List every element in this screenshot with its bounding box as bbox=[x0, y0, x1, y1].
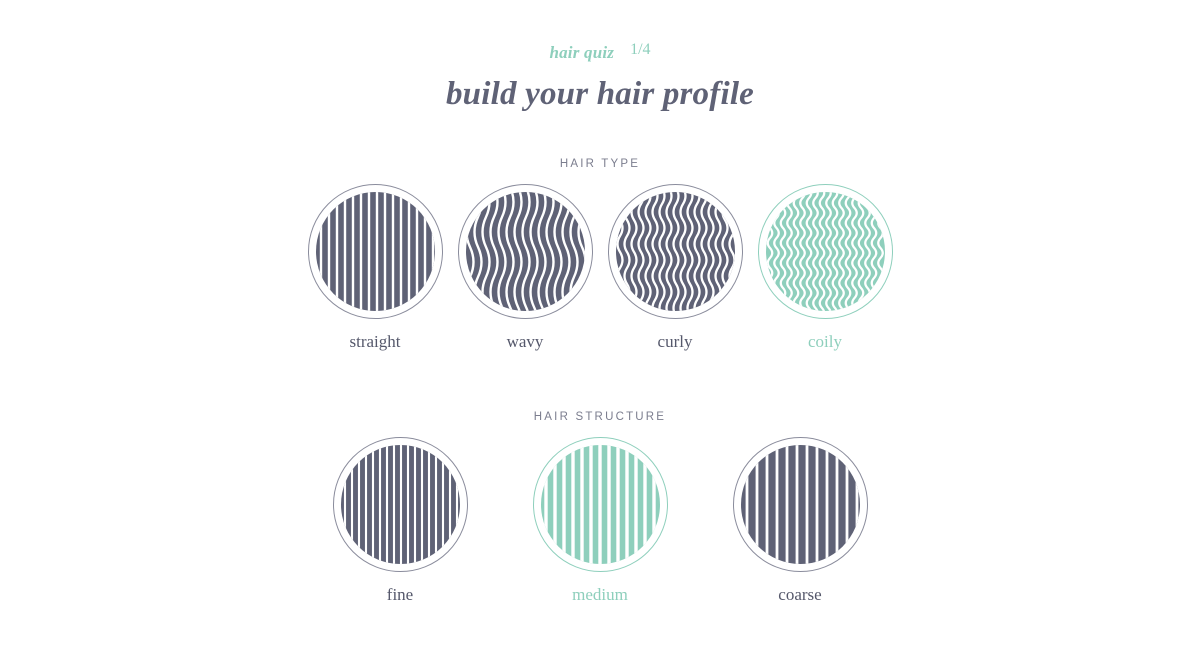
quiz-header: hair quiz1/4 build your hair profile bbox=[0, 44, 1200, 112]
swatch-curly[interactable] bbox=[608, 184, 743, 319]
curly-lines-icon bbox=[616, 192, 735, 311]
coily-lines-icon bbox=[766, 192, 885, 311]
section-hair-structure: HAIR STRUCTURE bbox=[0, 411, 1200, 603]
option-coarse[interactable]: coarse bbox=[733, 437, 868, 603]
swatch-straight[interactable] bbox=[308, 184, 443, 319]
option-label-coarse: coarse bbox=[778, 586, 821, 603]
option-label-curly: curly bbox=[658, 333, 693, 350]
section-label-hair-structure: HAIR STRUCTURE bbox=[0, 411, 1200, 423]
option-label-wavy: wavy bbox=[507, 333, 544, 350]
section-hair-type: HAIR TYPE straight bbox=[0, 158, 1200, 350]
option-label-medium: medium bbox=[572, 586, 628, 603]
option-coily[interactable]: coily bbox=[758, 184, 893, 350]
option-label-straight: straight bbox=[350, 333, 401, 350]
swatch-coarse[interactable] bbox=[733, 437, 868, 572]
coarse-stripes-icon bbox=[741, 445, 860, 564]
swatch-wavy[interactable] bbox=[458, 184, 593, 319]
option-wavy[interactable]: wavy bbox=[458, 184, 593, 350]
section-label-hair-type: HAIR TYPE bbox=[0, 158, 1200, 170]
fine-stripes-icon bbox=[341, 445, 460, 564]
page-title: build your hair profile bbox=[0, 76, 1200, 112]
quiz-name-label: hair quiz bbox=[549, 43, 614, 62]
step-counter: 1/4 bbox=[630, 41, 650, 58]
swatch-fine[interactable] bbox=[333, 437, 468, 572]
quiz-eyebrow: hair quiz1/4 bbox=[0, 44, 1200, 62]
option-row-hair-structure: fine medium bbox=[0, 437, 1200, 603]
wavy-lines-icon bbox=[466, 192, 585, 311]
option-label-coily: coily bbox=[808, 333, 842, 350]
swatch-medium[interactable] bbox=[533, 437, 668, 572]
straight-lines-icon bbox=[316, 192, 435, 311]
medium-stripes-icon bbox=[541, 445, 660, 564]
option-medium[interactable]: medium bbox=[533, 437, 668, 603]
option-label-fine: fine bbox=[387, 586, 413, 603]
option-curly[interactable]: curly bbox=[608, 184, 743, 350]
option-row-hair-type: straight bbox=[0, 184, 1200, 350]
option-straight[interactable]: straight bbox=[308, 184, 443, 350]
swatch-coily[interactable] bbox=[758, 184, 893, 319]
option-fine[interactable]: fine bbox=[333, 437, 468, 603]
